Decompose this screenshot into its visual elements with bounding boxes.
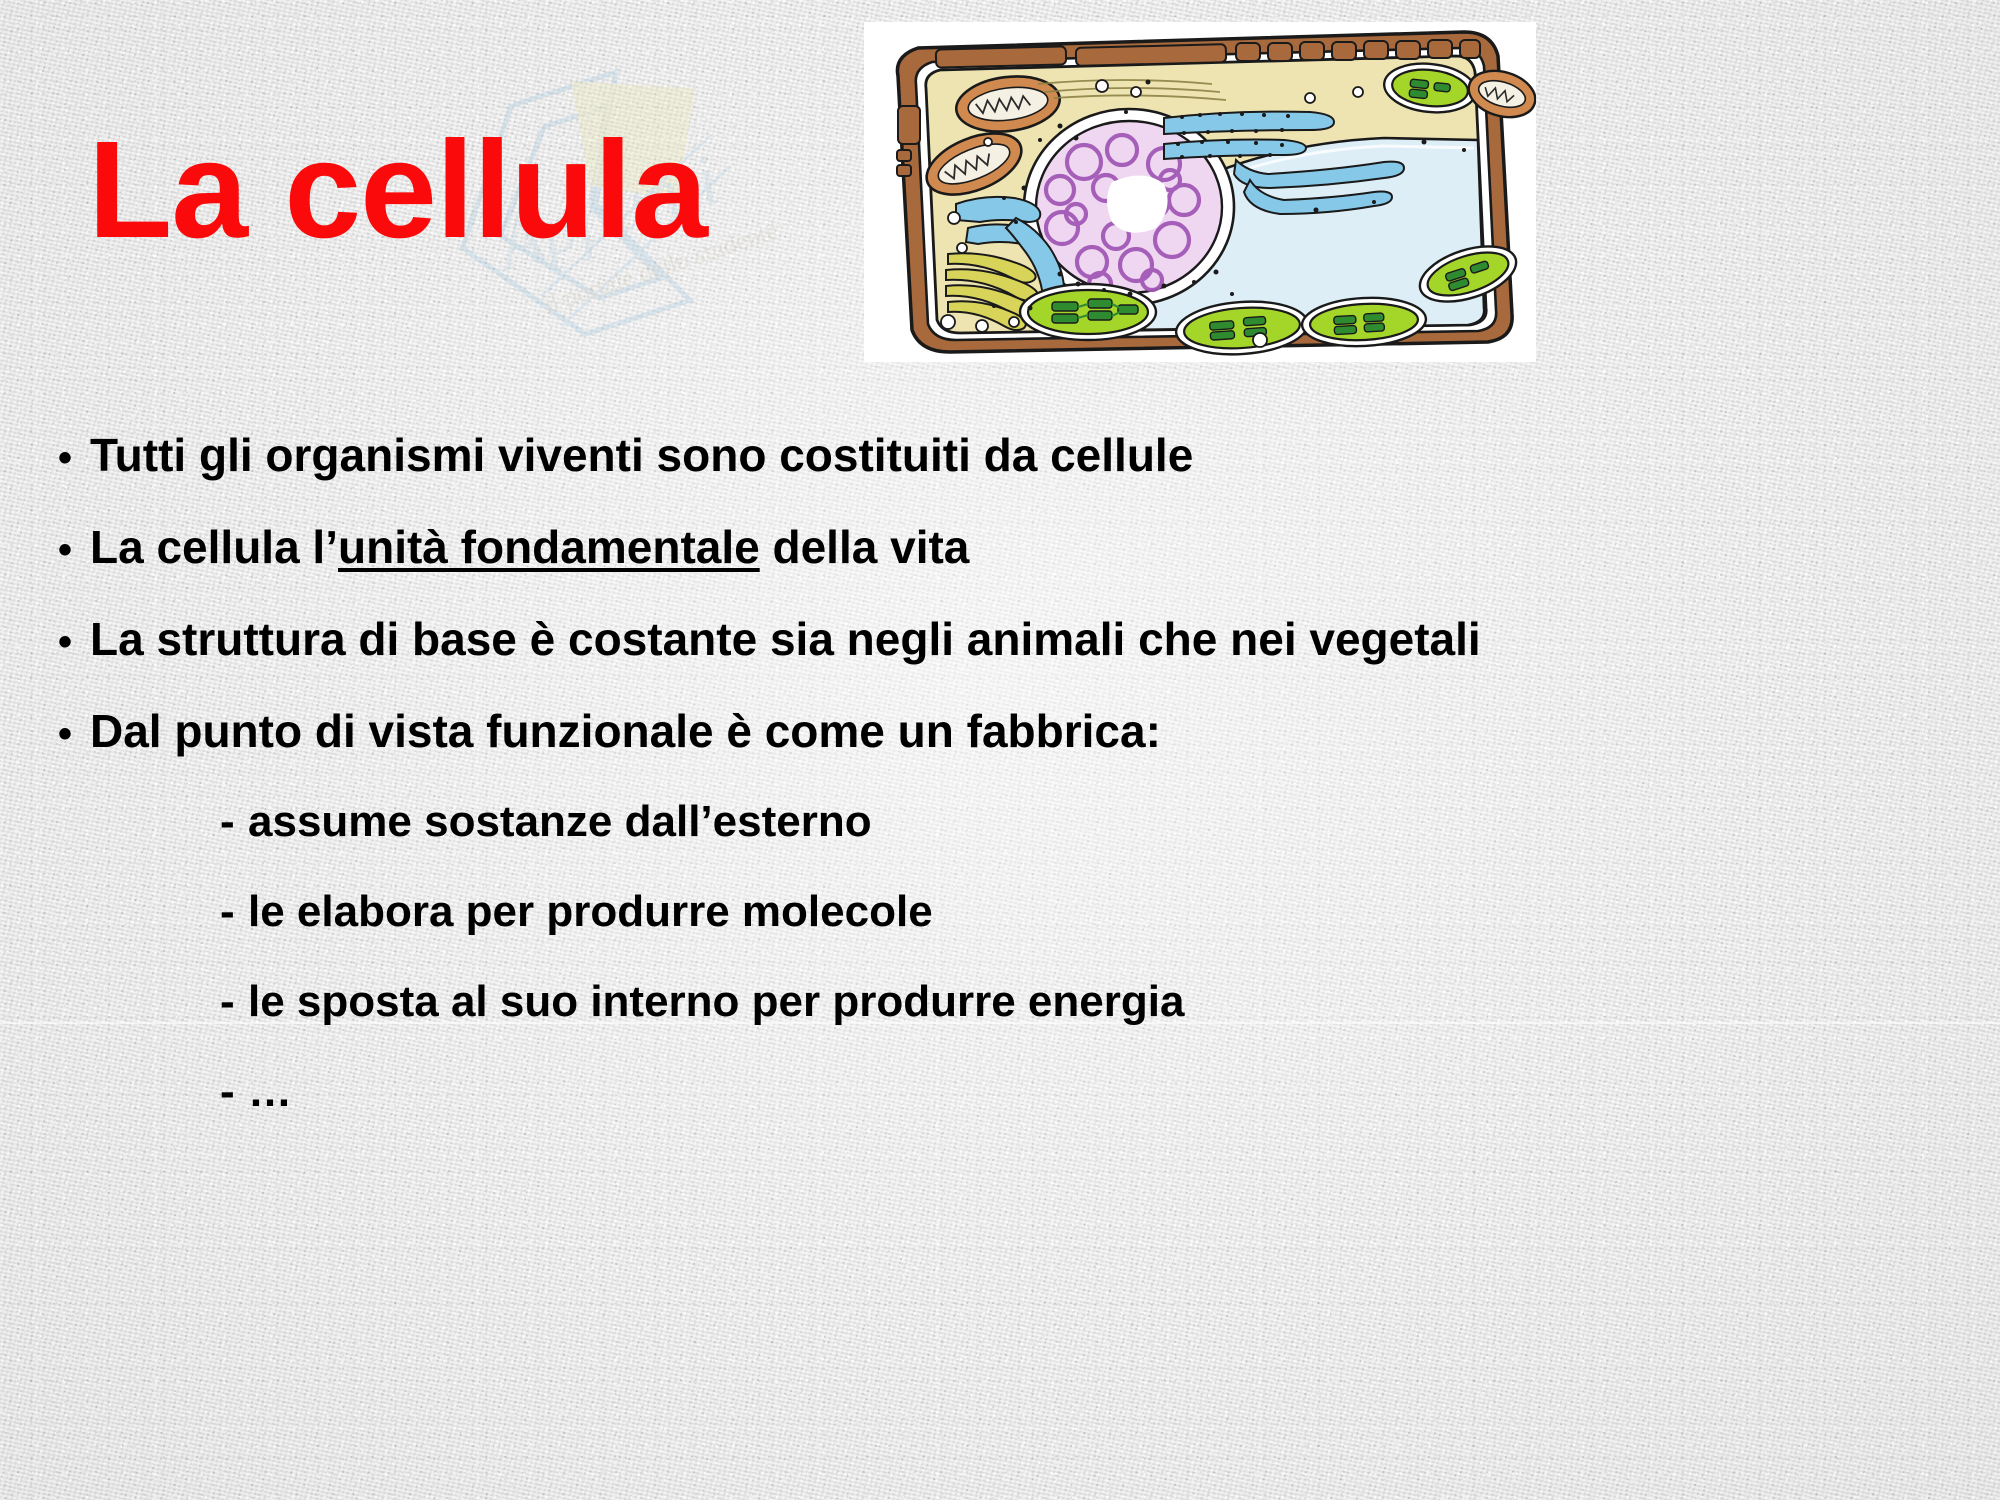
bullet-text-pre: La struttura di base è costante sia negl…	[90, 613, 1481, 665]
slide: Appunti il portale dello studente La cel…	[0, 0, 2000, 1500]
bullet-marker: •	[58, 622, 90, 662]
sub-item-3: - le sposta al suo interno per produrre …	[220, 980, 1958, 1024]
bullet-text: La struttura di base è costante sia negl…	[90, 616, 1481, 662]
plant-cell-figure	[864, 22, 1536, 362]
sub-item-label: assume sostanze dall’esterno	[248, 800, 872, 844]
sub-item-marker: -	[220, 800, 248, 844]
bullet-item-1: • Tutti gli organismi viventi sono costi…	[58, 432, 1958, 478]
sub-item-label: …	[248, 1070, 292, 1114]
sub-item-4: - …	[220, 1070, 1958, 1114]
page-title: La cellula	[88, 118, 707, 263]
bullet-text-pre: Tutti gli organismi viventi sono costitu…	[90, 429, 1193, 481]
bullet-text-underlined: unità fondamentale	[338, 521, 760, 573]
sub-item-marker: -	[220, 890, 248, 934]
bullet-text-pre: La cellula l’	[90, 521, 338, 573]
bullet-item-3: • La struttura di base è costante sia ne…	[58, 616, 1958, 662]
sub-item-2: - le elabora per produrre molecole	[220, 890, 1958, 934]
sub-item-1: - assume sostanze dall’esterno	[220, 800, 1958, 844]
chloroplast-icon-1	[1020, 284, 1156, 340]
sub-item-label: le elabora per produrre molecole	[248, 890, 933, 934]
nucleolus-icon	[1107, 175, 1168, 232]
bullet-list: • Tutti gli organismi viventi sono costi…	[58, 432, 1958, 1160]
bullet-marker: •	[58, 438, 90, 478]
sub-item-marker: -	[220, 1070, 248, 1114]
bullet-text: La cellula l’unità fondamentale della vi…	[90, 524, 969, 570]
sub-item-marker: -	[220, 980, 248, 1024]
bullet-item-2: • La cellula l’unità fondamentale della …	[58, 524, 1958, 570]
bullet-marker: •	[58, 714, 90, 754]
bullet-text-pre: Dal punto di vista funzionale è come un …	[90, 705, 1161, 757]
bullet-item-4: • Dal punto di vista funzionale è come u…	[58, 708, 1958, 754]
bullet-text-post: della vita	[760, 521, 970, 573]
bullet-text: Dal punto di vista funzionale è come un …	[90, 708, 1161, 754]
bullet-text: Tutti gli organismi viventi sono costitu…	[90, 432, 1193, 478]
sub-item-label: le sposta al suo interno per produrre en…	[248, 980, 1184, 1024]
bullet-marker: •	[58, 530, 90, 570]
